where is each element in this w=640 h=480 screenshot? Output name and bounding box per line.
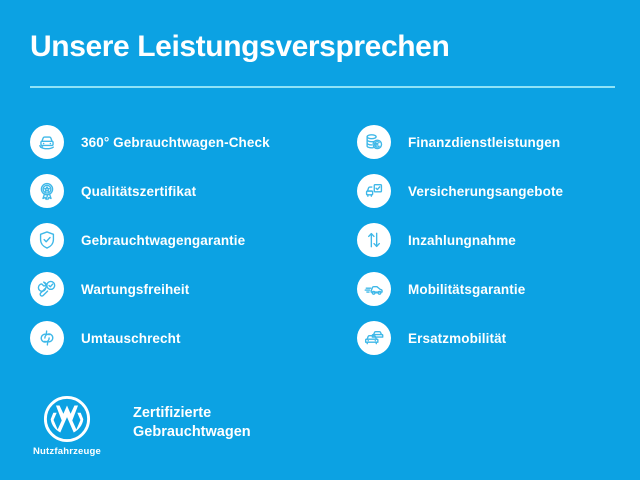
- promise-item-quality-certificate: Qualitätszertifikat: [30, 171, 320, 211]
- promise-item-replacement-mobility: Ersatzmobilität: [357, 318, 640, 358]
- promise-label: Finanzdienstleistungen: [408, 135, 560, 150]
- brand-subtext: Nutzfahrzeuge: [33, 446, 101, 457]
- promise-label: Inzahlungnahme: [408, 233, 516, 248]
- promise-item-mobility-guarantee: Mobilitätsgarantie: [357, 269, 640, 309]
- moving-van-icon: [357, 272, 391, 306]
- promise-label: 360° Gebrauchtwagen-Check: [81, 135, 270, 150]
- promise-item-financial-services: Finanzdienstleistungen: [357, 122, 640, 162]
- promise-banner: Unsere Leistungsversprechen 360° Gebrauc…: [0, 0, 640, 480]
- vw-roundel-logo: [43, 395, 91, 443]
- promise-item-warranty: Gebrauchtwagengarantie: [30, 220, 320, 260]
- car-document-check-icon: [357, 174, 391, 208]
- promise-label: Ersatzmobilität: [408, 331, 506, 346]
- footer: Nutzfahrzeuge Zertifizierte Gebrauchtwag…: [30, 395, 251, 457]
- award-rosette-icon: [30, 174, 64, 208]
- promise-label: Mobilitätsgarantie: [408, 282, 525, 297]
- promise-label: Umtauschrecht: [81, 331, 181, 346]
- footer-tagline-line1: Zertifizierte: [133, 404, 251, 423]
- title-divider: [30, 86, 615, 88]
- promises-left-column: 360° Gebrauchtwagen-Check Qualitätszerti…: [30, 122, 320, 367]
- footer-tagline: Zertifizierte Gebrauchtwagen: [133, 404, 251, 442]
- page-title: Unsere Leistungsversprechen: [30, 30, 449, 64]
- footer-tagline-line2: Gebrauchtwagen: [133, 423, 251, 442]
- exchange-arrows-icon: [30, 321, 64, 355]
- promise-item-right-of-exchange: Umtauschrecht: [30, 318, 320, 358]
- promises-right-column: Finanzdienstleistungen Versicherungsange…: [357, 122, 640, 367]
- promise-label: Qualitätszertifikat: [81, 184, 196, 199]
- shield-check-icon: [30, 223, 64, 257]
- promise-label: Wartungsfreiheit: [81, 282, 189, 297]
- promise-item-trade-in: Inzahlungnahme: [357, 220, 640, 260]
- coins-euro-icon: [357, 125, 391, 159]
- wrench-check-icon: [30, 272, 64, 306]
- promise-item-insurance-offers: Versicherungsangebote: [357, 171, 640, 211]
- car-360-check-icon: [30, 125, 64, 159]
- promise-label: Versicherungsangebote: [408, 184, 563, 199]
- brand-mark: Nutzfahrzeuge: [30, 395, 104, 457]
- promise-item-maintenance-free: Wartungsfreiheit: [30, 269, 320, 309]
- up-down-arrows-icon: [357, 223, 391, 257]
- promise-item-360-check: 360° Gebrauchtwagen-Check: [30, 122, 320, 162]
- promise-label: Gebrauchtwagengarantie: [81, 233, 245, 248]
- two-cars-icon: [357, 321, 391, 355]
